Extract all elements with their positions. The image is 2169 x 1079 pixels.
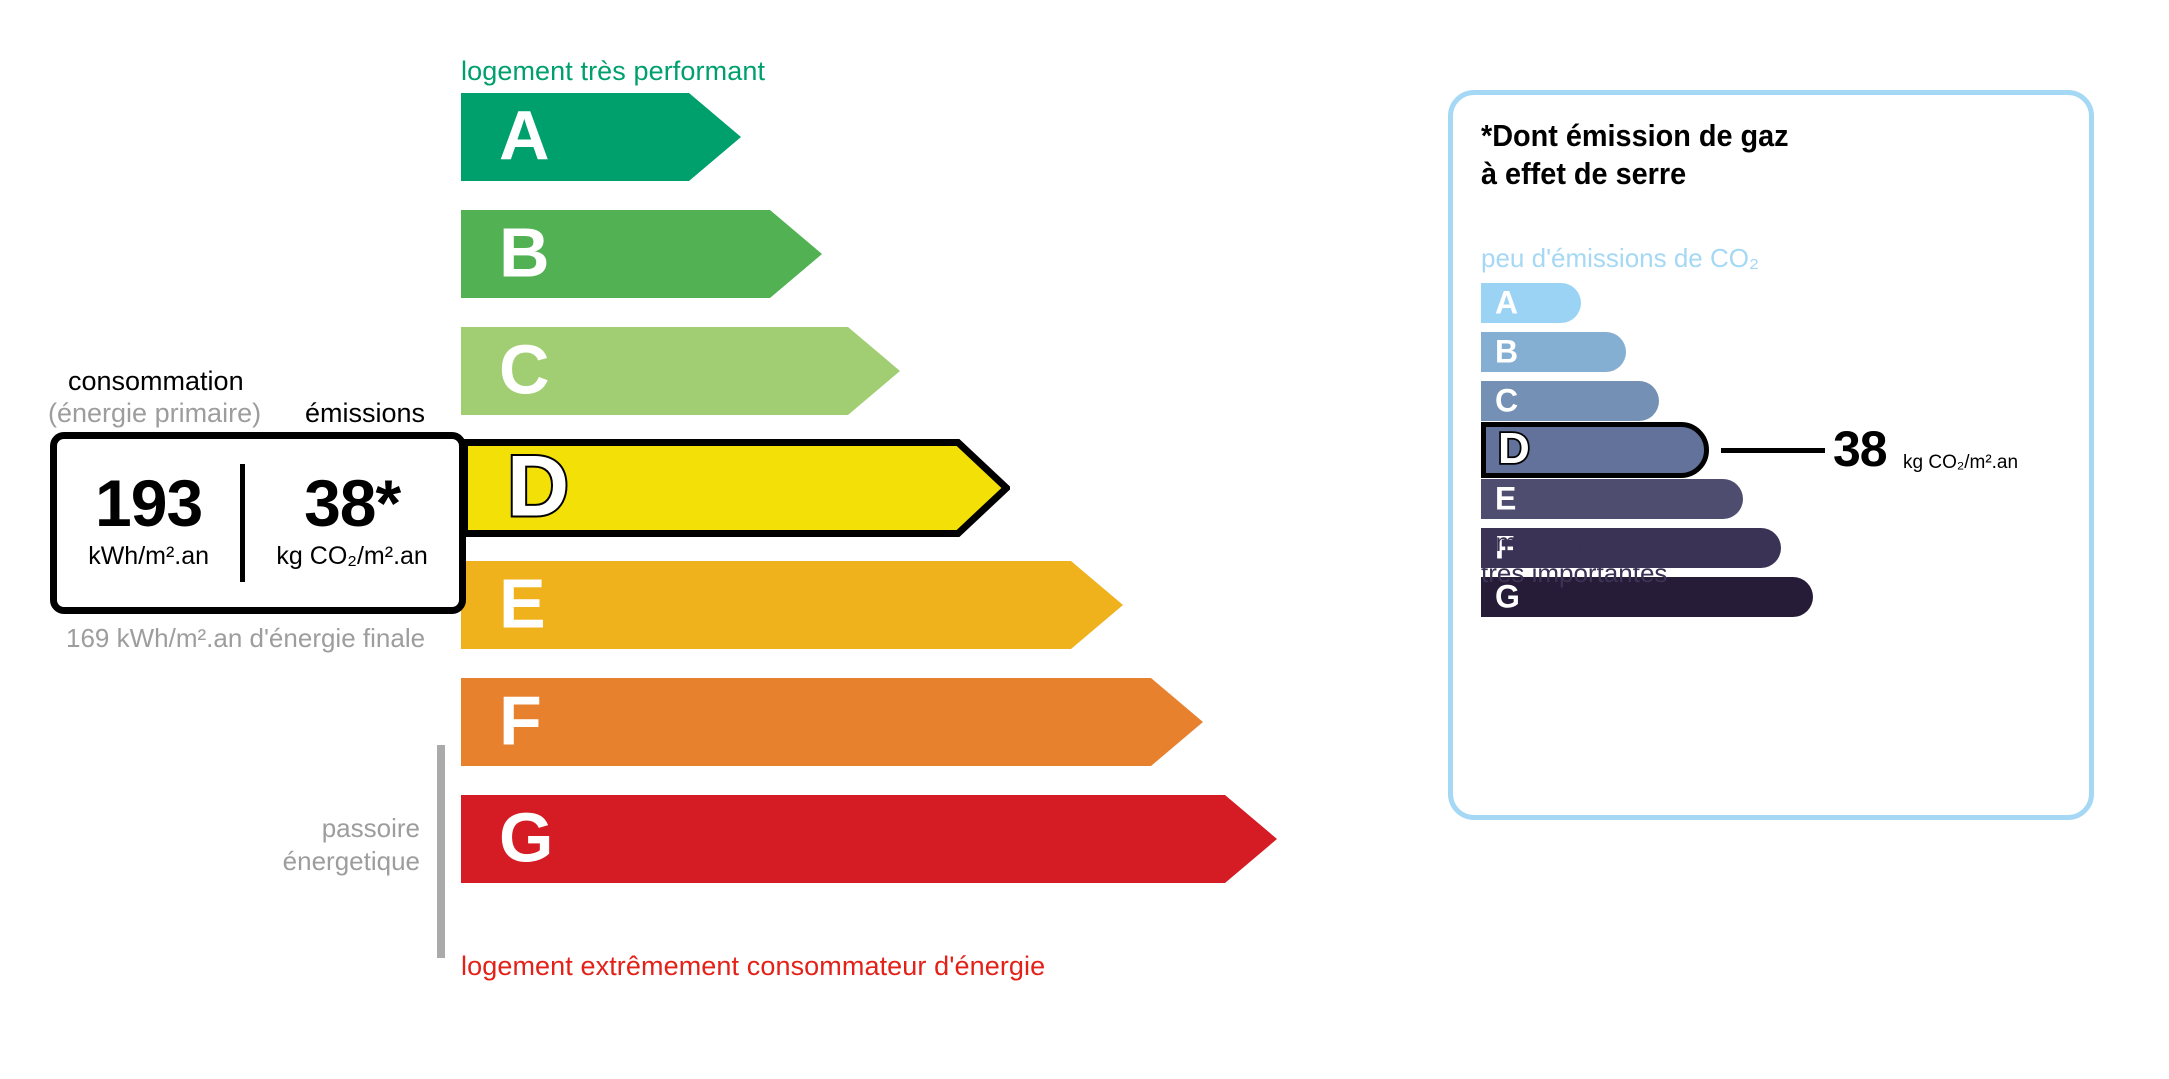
co2-class-c: C	[1481, 381, 1659, 421]
co2-letter-c: C	[1495, 384, 1518, 416]
energy-arrow-f	[461, 678, 1203, 766]
co2-letter-d: D	[1498, 427, 1530, 471]
final-energy-label: 169 kWh/m².an d'énergie finale	[66, 622, 425, 655]
emissions-label: émissions	[305, 398, 425, 429]
co2-top-caption: peu d'émissions de CO₂	[1481, 243, 1759, 274]
energy-letter-c: C	[499, 335, 550, 405]
energy-letter-e: E	[499, 569, 546, 639]
co2-callout-line	[1721, 448, 1825, 453]
energy-letter-b: B	[499, 218, 550, 288]
co2-class-b: B	[1481, 332, 1626, 372]
consumption-label: consommation	[68, 366, 244, 397]
co2-callout-value: 38	[1833, 424, 1887, 474]
energy-arrow-g	[461, 795, 1277, 883]
energy-class-d: D	[461, 439, 1010, 537]
scale-top-caption: logement très performant	[461, 56, 765, 87]
emissions-unit: kg CO₂/m².an	[245, 538, 459, 576]
energy-letter-f: F	[499, 686, 542, 756]
co2-callout-unit: kg CO₂/m².an	[1903, 452, 2018, 474]
energy-letter-a: A	[499, 101, 550, 171]
energy-class-b: B	[461, 210, 822, 298]
energy-letter-g: G	[499, 803, 553, 873]
co2-letter-a: A	[1495, 286, 1518, 318]
co2-class-e: E	[1481, 479, 1743, 519]
consumption-value-cell: 193 kWh/m².an	[57, 470, 240, 576]
consumption-value: 193	[57, 470, 240, 536]
co2-letter-b: B	[1495, 335, 1518, 367]
passoire-energetique-label: passoire énergetique	[180, 812, 420, 879]
emissions-value: 38*	[245, 470, 459, 536]
energy-class-a: A	[461, 93, 741, 181]
co2-class-d: D	[1481, 422, 1709, 478]
energy-class-f: F	[461, 678, 1203, 766]
primary-energy-sublabel: (énergie primaire)	[48, 398, 261, 429]
co2-bottom-caption: émissions de CO₂ très importantes	[1481, 527, 1689, 589]
co2-letter-e: E	[1495, 482, 1516, 514]
co2-class-a: A	[1481, 283, 1581, 323]
energy-class-e: E	[461, 561, 1123, 649]
dpe-value-box: 193 kWh/m².an 38* kg CO₂/m².an	[50, 432, 466, 614]
energy-letter-d: D	[507, 443, 569, 529]
co2-emissions-panel: *Dont émission de gaz à effet de serre p…	[1448, 90, 2094, 820]
scale-bottom-caption: logement extrêmement consommateur d'éner…	[461, 951, 1045, 982]
energy-class-c: C	[461, 327, 900, 415]
energy-arrow-e	[461, 561, 1123, 649]
dpe-energy-scale: logement très performant ABCDEFG logemen…	[0, 0, 1400, 1079]
passoire-energetique-bar	[437, 745, 445, 958]
consumption-unit: kWh/m².an	[57, 538, 240, 576]
emissions-value-cell: 38* kg CO₂/m².an	[245, 470, 459, 576]
energy-class-g: G	[461, 795, 1277, 883]
co2-panel-title: *Dont émission de gaz à effet de serre	[1481, 117, 1789, 193]
